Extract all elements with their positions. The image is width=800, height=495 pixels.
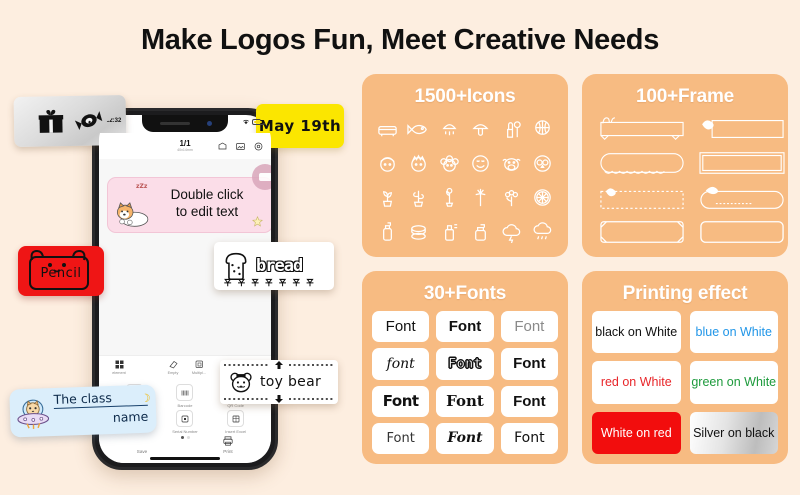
sticker-bread-label: bread [214, 242, 334, 290]
serial-icon [180, 414, 190, 424]
canvas-label-line2: to edit text [176, 204, 238, 219]
printing-sample-grid: black on White blue on White red on Whit… [592, 311, 778, 454]
tree-border-icon [220, 276, 328, 288]
sticker-class-line2: name [54, 409, 148, 427]
font-sample[interactable]: Font [436, 386, 493, 417]
font-sample[interactable]: Font [436, 311, 493, 342]
page-counter-value: 1/1 [177, 139, 193, 148]
topbar-icons [217, 141, 264, 152]
moon-icon: ☽ [140, 392, 150, 405]
quick-action-label: element [112, 371, 126, 375]
print-label: Print [223, 449, 232, 454]
tool-insert-excel[interactable]: Insert Excel [210, 410, 261, 434]
font-sample[interactable]: Font [501, 423, 558, 454]
font-sample[interactable]: Font [501, 311, 558, 342]
corner-notch-frame [596, 218, 688, 246]
star-icon [252, 216, 263, 227]
font-sample[interactable]: font [372, 348, 429, 379]
zzz-text: zZz [136, 183, 147, 190]
card-icons: 1500+Icons [362, 74, 568, 257]
potted-plant-icon [376, 186, 399, 209]
sticker-class-label: ☽ The class name [9, 384, 157, 437]
excel-icon [231, 414, 241, 424]
printer-icon [222, 435, 234, 447]
font-sample[interactable]: Font [501, 386, 558, 417]
globe-icon [531, 118, 554, 141]
print-sample[interactable]: blue on White [690, 311, 779, 353]
eraser-icon [168, 359, 179, 370]
fish-icon [407, 118, 430, 141]
sticker-pencil-text: Pencil [18, 266, 104, 281]
sticker-bear-label: toy bear [220, 360, 338, 404]
wifi-icon [242, 118, 250, 125]
print-button[interactable]: Print [198, 435, 258, 454]
ufo-cat-icon [14, 394, 51, 431]
thunder-cloud-icon [500, 220, 523, 243]
rain-cloud-icon [531, 220, 554, 243]
status-indicators [242, 118, 265, 125]
font-sample[interactable]: Font [372, 311, 429, 342]
lamp-icon [438, 118, 461, 141]
card-printing-effect: Printing effect black on White blue on W… [582, 271, 788, 464]
card-fonts-title: 30+Fonts [424, 283, 506, 305]
sticker-class-line1: The class [53, 389, 148, 409]
rounded-outline-frame [696, 218, 788, 246]
grid-icon [114, 359, 125, 370]
lotion-bottle-icon [376, 220, 399, 243]
copy-icon [194, 359, 205, 370]
bird-rectangle-frame [696, 115, 788, 143]
owl-icon [531, 152, 554, 175]
save-button[interactable]: Save [112, 435, 172, 454]
editor-footer: Save Print [99, 435, 271, 454]
page-counter: 1/1 40x14mm [177, 139, 193, 153]
shiba-dog-icon [115, 198, 151, 228]
frame-sample-grid [592, 114, 778, 247]
save-label: Save [137, 449, 147, 454]
pill-leaf-frame [696, 184, 788, 212]
quick-action-label: Empty [168, 371, 179, 375]
home-indicator [150, 457, 220, 460]
quick-action-empty[interactable]: Empty [160, 359, 186, 375]
shape-icon[interactable] [217, 141, 228, 152]
tool-label: Barcode [178, 403, 193, 408]
eraser-badge-icon[interactable] [252, 164, 271, 190]
font-sample[interactable]: Font [372, 423, 429, 454]
perfume-icon [438, 220, 461, 243]
page-title: Make Logos Fun, Meet Creative Needs [0, 24, 800, 57]
canvas-label-text: Double click to edit text [152, 186, 262, 220]
sticker-bread-text: bread [256, 256, 302, 276]
quick-action-element[interactable]: element [106, 359, 132, 375]
cat-ears-banner-frame [596, 115, 688, 143]
sprout-icon [438, 186, 461, 209]
canvas-label-element[interactable]: zZz Double click [107, 177, 271, 233]
gift-box-icon [37, 107, 65, 135]
mushroom-lamp-icon [469, 118, 492, 141]
boy-face-icon [376, 152, 399, 175]
smiling-face-icon [469, 152, 492, 175]
girl-face-icon [407, 152, 430, 175]
card-printing-title: Printing effect [623, 283, 748, 305]
poodle-icon [438, 152, 461, 175]
battery-icon [252, 119, 265, 125]
canvas-label-line1: Double click [171, 187, 244, 202]
tool-label: Insert Excel [225, 429, 246, 434]
image-icon[interactable] [235, 141, 246, 152]
status-time: 12:32 [106, 118, 121, 124]
powder-compact-icon [407, 220, 430, 243]
print-sample[interactable]: Silver on black [690, 412, 779, 454]
font-sample-grid: Font Font Font font Font Font Font Font … [372, 311, 558, 454]
card-frames: 100+Frame [582, 74, 788, 257]
speaker-icon [160, 122, 190, 125]
bear-face-icon [228, 370, 254, 395]
font-sample[interactable]: Font [436, 348, 493, 379]
tool-label: Serial Number [172, 429, 198, 434]
page-size-label: 40x14mm [177, 148, 193, 153]
print-sample[interactable]: green on White [690, 361, 779, 403]
dandelion-icon [469, 186, 492, 209]
card-frames-title: 100+Frame [636, 86, 734, 108]
tool-serial-number[interactable]: Serial Number [160, 410, 211, 434]
flower-icon [500, 186, 523, 209]
font-sample[interactable]: Font [372, 386, 429, 417]
card-icons-title: 1500+Icons [415, 86, 516, 108]
sticker-pencil-label: Pencil [18, 246, 104, 296]
cow-face-icon [500, 152, 523, 175]
promo-page: Make Logos Fun, Meet Creative Needs 12:3… [0, 0, 800, 495]
quick-action-label: Multipl... [192, 371, 206, 375]
icon-sample-grid [372, 114, 558, 247]
double-rectangle-frame [696, 149, 788, 177]
print-sample[interactable]: black on White [592, 311, 681, 353]
font-sample[interactable]: Font [436, 423, 493, 454]
soap-dispenser-icon [469, 220, 492, 243]
font-sample[interactable]: Font [501, 348, 558, 379]
cactus-icon [407, 186, 430, 209]
phone-notch [142, 115, 228, 132]
rounded-ticket-frame [596, 149, 688, 177]
card-fonts: 30+Fonts Font Font Font font Font Font F… [362, 271, 568, 464]
editor-topbar: 1/1 40x14mm [99, 133, 271, 159]
lipstick-icon [500, 118, 523, 141]
citrus-slice-icon [531, 186, 554, 209]
dotted-bird-frame [596, 184, 688, 212]
print-sample[interactable]: White on red [592, 412, 681, 454]
quick-action-multiply[interactable]: Multipl... [186, 359, 212, 375]
sofa-icon [376, 118, 399, 141]
print-sample[interactable]: red on White [592, 361, 681, 403]
tool-barcode[interactable]: Barcode [160, 384, 211, 408]
barcode-icon [180, 388, 190, 398]
feature-cards: 1500+Icons [362, 74, 788, 474]
camera-icon [207, 121, 212, 126]
settings-icon[interactable] [253, 141, 264, 152]
